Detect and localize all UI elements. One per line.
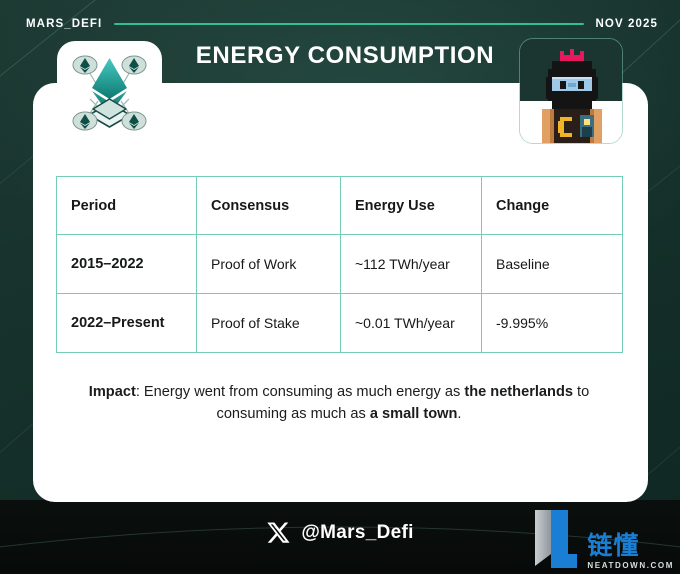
cell-period: 2022–Present bbox=[57, 294, 197, 353]
cell-change: -9.995% bbox=[482, 294, 623, 353]
cell-consensus: Proof of Work bbox=[197, 235, 341, 294]
impact-emphasis-small-town: a small town bbox=[370, 406, 458, 422]
comparison-table: Period Consensus Energy Use Change 2015–… bbox=[56, 176, 623, 353]
pixel-avatar-icon bbox=[520, 39, 623, 144]
top-bar: MARS_DEFI NOV 2025 bbox=[26, 16, 658, 32]
cell-consensus: Proof of Stake bbox=[197, 294, 341, 353]
ethereum-logo-tile bbox=[57, 41, 162, 144]
l-logo-icon bbox=[529, 508, 581, 570]
x-twitter-icon[interactable] bbox=[266, 521, 290, 545]
cell-change: Baseline bbox=[482, 235, 623, 294]
watermark-text-group: 链懂 NEATDOWN.COM bbox=[587, 533, 674, 570]
avatar-tile bbox=[519, 38, 623, 144]
column-header-change: Change bbox=[482, 177, 623, 235]
table-row: 2015–2022 Proof of Work ~112 TWh/year Ba… bbox=[57, 235, 623, 294]
table-header-row: Period Consensus Energy Use Change bbox=[57, 177, 623, 235]
cell-energy-use: ~0.01 TWh/year bbox=[341, 294, 482, 353]
watermark-name: 链懂 bbox=[587, 533, 639, 560]
impact-separator: : bbox=[136, 384, 144, 400]
ethereum-network-icon bbox=[57, 41, 162, 144]
impact-text-1: Energy went from consuming as much energ… bbox=[144, 384, 464, 400]
page-title: ENERGY CONSUMPTION bbox=[170, 42, 520, 70]
impact-emphasis-netherlands: the netherlands bbox=[464, 384, 573, 400]
column-header-energy-use: Energy Use bbox=[341, 177, 482, 235]
brand-label: MARS_DEFI bbox=[26, 18, 102, 30]
cell-period: 2015–2022 bbox=[57, 235, 197, 294]
watermark-domain: NEATDOWN.COM bbox=[587, 561, 674, 570]
social-handle-text[interactable]: @Mars_Defi bbox=[301, 522, 413, 544]
impact-statement: Impact: Energy went from consuming as mu… bbox=[56, 381, 622, 425]
column-header-consensus: Consensus bbox=[197, 177, 341, 235]
poster-canvas: MARS_DEFI NOV 2025 ENERGY CONSUMPTION bbox=[0, 0, 680, 574]
impact-text-3: . bbox=[457, 406, 461, 422]
site-watermark: 链懂 NEATDOWN.COM bbox=[529, 508, 674, 570]
header-divider-rule bbox=[114, 23, 583, 25]
table-row: 2022–Present Proof of Stake ~0.01 TWh/ye… bbox=[57, 294, 623, 353]
cell-energy-use: ~112 TWh/year bbox=[341, 235, 482, 294]
column-header-period: Period bbox=[57, 177, 197, 235]
date-label: NOV 2025 bbox=[596, 18, 659, 30]
impact-label: Impact bbox=[89, 384, 136, 400]
